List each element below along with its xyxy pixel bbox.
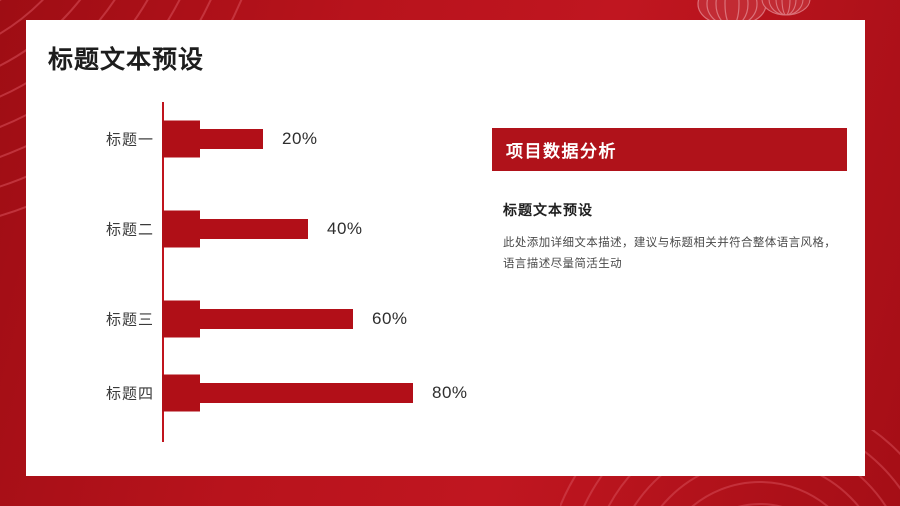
panel-heading: 标题文本预设	[503, 200, 847, 220]
info-panel: 项目数据分析 标题文本预设 此处添加详细文本描述，建议与标题相关并符合整体语言风…	[492, 128, 847, 275]
page-title: 标题文本预设	[48, 44, 204, 76]
chart-row: 标题四 80%	[60, 370, 480, 416]
chart-category-wrap: 标题三	[60, 296, 154, 342]
bar-value-label: 40%	[327, 219, 363, 239]
chart-category-label: 标题四	[106, 383, 154, 404]
panel-body: 标题文本预设 此处添加详细文本描述，建议与标题相关并符合整体语言风格，语言描述尽…	[503, 200, 847, 275]
bar-head	[162, 121, 200, 158]
chart-row: 标题二 40%	[60, 206, 480, 252]
panel-banner: 项目数据分析	[492, 128, 847, 171]
chart-category-wrap: 标题四	[60, 370, 154, 416]
chart-category-wrap: 标题一	[60, 116, 154, 162]
bar-head	[162, 301, 200, 338]
bar-stem	[200, 219, 308, 239]
chart-category-label: 标题二	[106, 219, 154, 240]
bar-chart: 标题一 20% 标题二 40% 标题三	[60, 96, 480, 446]
bar-value-label: 60%	[372, 309, 408, 329]
chart-category-label: 标题三	[106, 309, 154, 330]
chart-row: 标题三 60%	[60, 296, 480, 342]
chart-category-wrap: 标题二	[60, 206, 154, 252]
bar-stem	[200, 383, 413, 403]
chart-category-label: 标题一	[106, 129, 154, 150]
bar-stem	[200, 129, 263, 149]
bar-value-label: 20%	[282, 129, 318, 149]
panel-banner-title: 项目数据分析	[506, 137, 617, 162]
bar-stem	[200, 309, 353, 329]
panel-description: 此处添加详细文本描述，建议与标题相关并符合整体语言风格，语言描述尽量简活生动	[503, 233, 845, 275]
bar-head	[162, 375, 200, 412]
chart-row: 标题一 20%	[60, 116, 480, 162]
bar-value-label: 80%	[432, 383, 468, 403]
bar-head	[162, 211, 200, 248]
content-card: 标题文本预设 标题一 20% 标题二 40%	[26, 20, 865, 476]
slide-root: 标题文本预设 标题一 20% 标题二 40%	[0, 0, 900, 506]
